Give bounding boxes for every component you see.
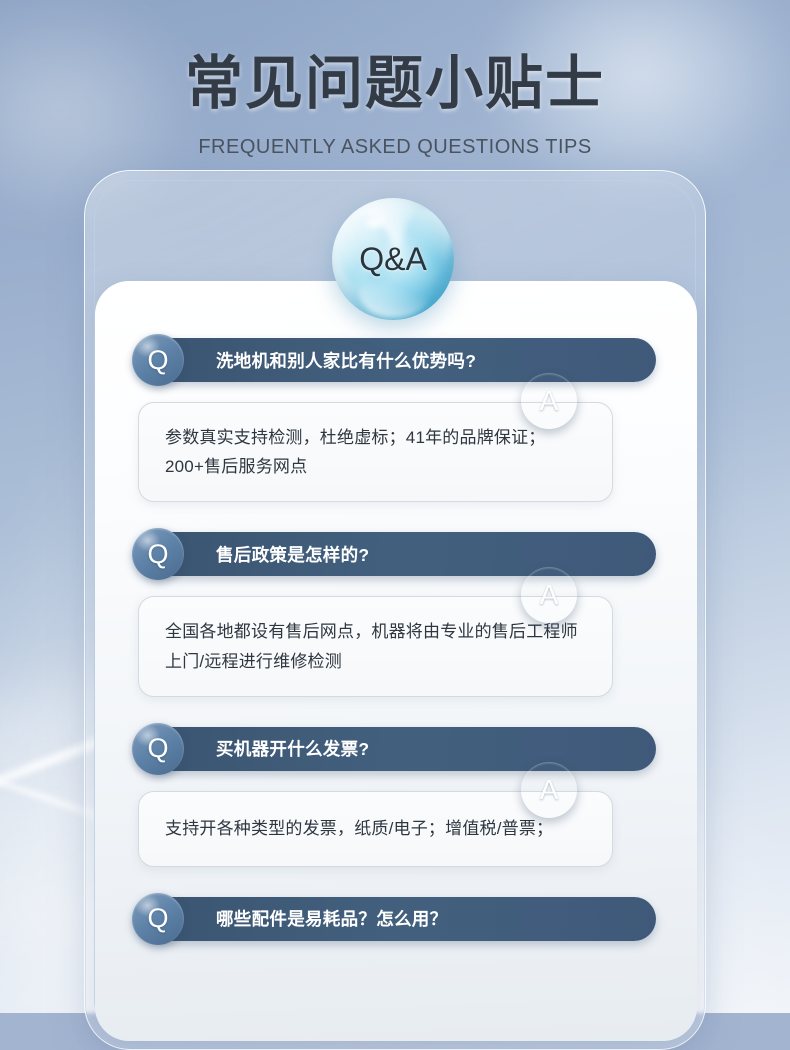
- page-subtitle: FREQUENTLY ASKED QUESTIONS TIPS: [0, 136, 790, 159]
- water-drop-sphere-icon: Q&A: [332, 198, 454, 320]
- answer-card: 全国各地都设有售后网点，机器将由专业的售后工程师上门/远程进行维修检测 A: [138, 596, 613, 696]
- question-pill[interactable]: 洗地机和别人家比有什么优势吗?: [138, 338, 656, 382]
- faq-item[interactable]: 洗地机和别人家比有什么优势吗? Q 参数真实支持检测，杜绝虚标；41年的品牌保证…: [95, 338, 697, 502]
- question-badge-icon: Q: [132, 893, 184, 945]
- answer-row: 参数真实支持检测，杜绝虚标；41年的品牌保证；200+售后服务网点 A: [95, 402, 697, 502]
- question-row[interactable]: 哪些配件是易耗品？怎么用？ Q: [95, 897, 697, 947]
- answer-badge-icon: A: [521, 762, 577, 818]
- question-pill[interactable]: 买机器开什么发票?: [138, 727, 656, 771]
- question-row[interactable]: 买机器开什么发票? Q: [95, 727, 697, 777]
- question-row[interactable]: 售后政策是怎样的? Q: [95, 532, 697, 582]
- faq-list: 洗地机和别人家比有什么优势吗? Q 参数真实支持检测，杜绝虚标；41年的品牌保证…: [95, 281, 697, 947]
- question-text: 买机器开什么发票?: [216, 736, 369, 761]
- answer-text: 支持开各种类型的发票，纸质/电子；增值税/普票；: [165, 814, 553, 843]
- faq-item[interactable]: 售后政策是怎样的? Q 全国各地都设有售后网点，机器将由专业的售后工程师上门/远…: [95, 532, 697, 696]
- answer-row: 全国各地都设有售后网点，机器将由专业的售后工程师上门/远程进行维修检测 A: [95, 596, 697, 696]
- question-pill[interactable]: 售后政策是怎样的?: [138, 532, 656, 576]
- question-badge-icon: Q: [132, 723, 184, 775]
- answer-text: 参数真实支持检测，杜绝虚标；41年的品牌保证；200+售后服务网点: [165, 423, 588, 481]
- answer-badge-icon: A: [521, 373, 577, 429]
- faq-item[interactable]: 哪些配件是易耗品？怎么用？ Q: [95, 897, 697, 947]
- answer-text: 全国各地都设有售后网点，机器将由专业的售后工程师上门/远程进行维修检测: [165, 617, 588, 675]
- answer-card: 支持开各种类型的发票，纸质/电子；增值税/普票； A: [138, 791, 613, 867]
- question-text: 洗地机和别人家比有什么优势吗?: [216, 348, 476, 373]
- question-text: 售后政策是怎样的?: [216, 542, 369, 567]
- faq-panel: 洗地机和别人家比有什么优势吗? Q 参数真实支持检测，杜绝虚标；41年的品牌保证…: [95, 281, 697, 1041]
- question-row[interactable]: 洗地机和别人家比有什么优势吗? Q: [95, 338, 697, 388]
- question-text: 哪些配件是易耗品？怎么用？: [216, 906, 447, 931]
- qa-label: Q&A: [332, 198, 454, 320]
- question-badge-icon: Q: [132, 334, 184, 386]
- faq-item[interactable]: 买机器开什么发票? Q 支持开各种类型的发票，纸质/电子；增值税/普票； A: [95, 727, 697, 867]
- question-pill[interactable]: 哪些配件是易耗品？怎么用？: [138, 897, 656, 941]
- answer-badge-icon: A: [521, 567, 577, 623]
- page-title: 常见问题小贴士: [0, 36, 790, 120]
- answer-row: 支持开各种类型的发票，纸质/电子；增值税/普票； A: [95, 791, 697, 867]
- header: 常见问题小贴士 FREQUENTLY ASKED QUESTIONS TIPS: [0, 0, 790, 159]
- answer-card: 参数真实支持检测，杜绝虚标；41年的品牌保证；200+售后服务网点 A: [138, 402, 613, 502]
